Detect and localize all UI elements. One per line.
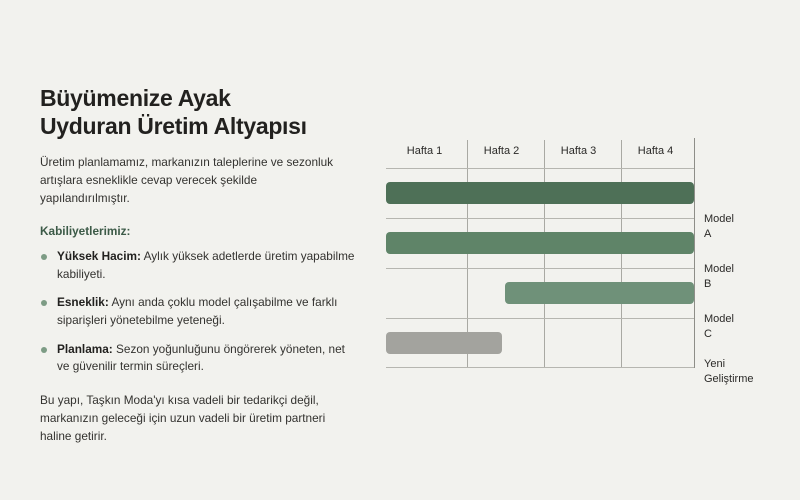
gantt-column-header: Hafta 1 bbox=[386, 138, 463, 168]
page-title: Büyümenize Ayak Uyduran Üretim Altyapısı bbox=[40, 84, 360, 140]
slide-canvas: Büyümenize Ayak Uyduran Üretim Altyapısı… bbox=[0, 0, 800, 500]
gantt-body bbox=[386, 168, 694, 368]
gantt-row bbox=[386, 218, 694, 268]
gantt-row-label: Model A bbox=[704, 212, 734, 241]
gantt-header-row: Hafta 1 Hafta 2 Hafta 3 Hafta 4 bbox=[386, 138, 694, 168]
capabilities-list: Yüksek Hacim: Aylık yüksek adetlerde üre… bbox=[40, 248, 360, 376]
bullet-dot-icon bbox=[41, 254, 47, 260]
gantt-row bbox=[386, 168, 694, 218]
gantt-axis-right bbox=[694, 138, 695, 368]
gantt-row-label: Model C bbox=[704, 312, 734, 341]
list-item-term: Yüksek Hacim: bbox=[57, 249, 141, 263]
gantt-row-label: Model B bbox=[704, 262, 734, 291]
capabilities-heading: Kabiliyetlerimiz: bbox=[40, 224, 360, 238]
list-item: Planlama: Sezon yoğunluğunu öngörerek yö… bbox=[40, 341, 357, 376]
left-content-column: Büyümenize Ayak Uyduran Üretim Altyapısı… bbox=[40, 84, 360, 446]
gantt-bar[interactable] bbox=[386, 232, 694, 254]
gantt-row bbox=[386, 318, 694, 368]
gantt-bar[interactable] bbox=[386, 332, 502, 354]
intro-paragraph: Üretim planlamamız, markanızın talepleri… bbox=[40, 154, 340, 208]
gantt-row bbox=[386, 268, 694, 318]
gantt-column-header: Hafta 4 bbox=[617, 138, 694, 168]
bullet-dot-icon bbox=[41, 300, 47, 306]
gantt-bar[interactable] bbox=[505, 282, 694, 304]
list-item: Esneklik: Aynı anda çoklu model çalışabi… bbox=[40, 294, 357, 329]
gantt-column-header: Hafta 3 bbox=[540, 138, 617, 168]
gantt-column-header: Hafta 2 bbox=[463, 138, 540, 168]
gantt-row-label: Yeni Geliştirme bbox=[704, 357, 754, 386]
list-item-term: Esneklik: bbox=[57, 295, 109, 309]
list-item-term: Planlama: bbox=[57, 342, 113, 356]
gantt-bar[interactable] bbox=[386, 182, 694, 204]
outro-paragraph: Bu yapı, Taşkın Moda'yı kısa vadeli bir … bbox=[40, 392, 342, 446]
list-item: Yüksek Hacim: Aylık yüksek adetlerde üre… bbox=[40, 248, 357, 283]
gantt-chart: Hafta 1 Hafta 2 Hafta 3 Hafta 4 bbox=[386, 138, 696, 368]
bullet-dot-icon bbox=[41, 347, 47, 353]
